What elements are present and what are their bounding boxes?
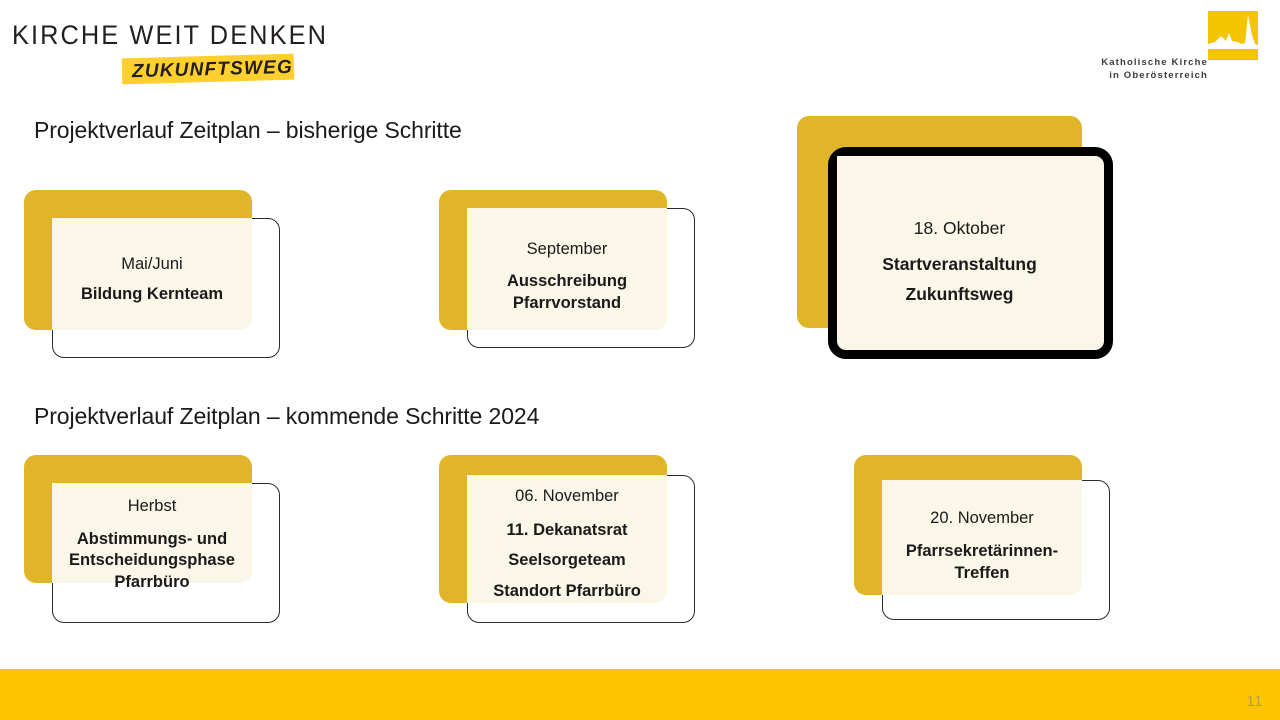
card-line-1: Startveranstaltung xyxy=(837,256,1082,274)
card-line-1: 11. Dekanatsrat xyxy=(467,522,667,539)
card-line-3: Pfarrbüro xyxy=(52,574,252,591)
logo-banner-text: ZUKUNFTSWEG xyxy=(132,57,294,83)
card-date: 18. Oktober xyxy=(837,220,1082,238)
page-number: 11 xyxy=(1246,693,1263,710)
timeline-card-20-november[interactable]: 20. November Pfarrsekretärinnen- Treffen xyxy=(854,455,1110,623)
card-line-1: Pfarrsekretärinnen- xyxy=(882,543,1082,560)
katholische-kirche-logo: Katholische Kirche in Oberösterreich xyxy=(1054,8,1269,88)
slide-canvas: KIRCHE WEIT DENKEN ZUKUNFTSWEG Katholisc… xyxy=(0,0,1280,720)
card-text: 06. November 11. Dekanatsrat Seelsorgete… xyxy=(467,488,667,599)
timeline-card-06-november[interactable]: 06. November 11. Dekanatsrat Seelsorgete… xyxy=(439,455,695,623)
card-date: 20. November xyxy=(882,510,1082,527)
mountain-pulse-mark-icon xyxy=(1208,11,1258,60)
card-line-3: Standort Pfarrbüro xyxy=(467,583,667,600)
card-text: Mai/Juni Bildung Kernteam xyxy=(52,256,252,302)
card-line-2: Zukunftsweg xyxy=(837,286,1082,304)
timeline-card-mai-juni[interactable]: Mai/Juni Bildung Kernteam xyxy=(24,190,280,358)
section-heading-upcoming-steps: Projektverlauf Zeitplan – kommende Schri… xyxy=(34,403,539,430)
logo-title-text: KIRCHE WEIT DENKEN xyxy=(12,20,328,51)
card-text: September Ausschreibung Pfarrvorstand xyxy=(467,241,667,312)
card-text: Herbst Abstimmungs- und Entscheidungspha… xyxy=(52,498,252,590)
card-line-2: Entscheidungsphase xyxy=(52,552,252,569)
card-text: 20. November Pfarrsekretärinnen- Treffen xyxy=(882,510,1082,582)
card-line-1: Bildung Kernteam xyxy=(52,286,252,303)
card-line-2: Treffen xyxy=(882,565,1082,582)
card-date: September xyxy=(467,241,667,258)
card-date: 06. November xyxy=(467,488,667,505)
timeline-card-september[interactable]: September Ausschreibung Pfarrvorstand xyxy=(439,190,695,358)
card-text: 18. Oktober Startveranstaltung Zukunftsw… xyxy=(837,220,1082,304)
diocese-name-text: Katholische Kirche in Oberösterreich xyxy=(1101,56,1208,82)
timeline-card-18-oktober[interactable]: 18. Oktober Startveranstaltung Zukunftsw… xyxy=(797,116,1113,359)
diocese-name-line1: Katholische Kirche xyxy=(1101,56,1208,69)
footer-bar xyxy=(0,669,1280,720)
section-heading-previous-steps: Projektverlauf Zeitplan – bisherige Schr… xyxy=(34,117,462,144)
card-line-2: Pfarrvorstand xyxy=(467,295,667,312)
kirche-weit-denken-logo: KIRCHE WEIT DENKEN ZUKUNFTSWEG xyxy=(10,8,310,88)
card-line-1: Abstimmungs- und xyxy=(52,531,252,548)
diocese-name-line2: in Oberösterreich xyxy=(1101,69,1208,82)
card-date: Herbst xyxy=(52,498,252,515)
card-line-1: Ausschreibung xyxy=(467,273,667,290)
card-date: Mai/Juni xyxy=(52,256,252,273)
timeline-card-herbst[interactable]: Herbst Abstimmungs- und Entscheidungspha… xyxy=(24,455,280,623)
card-line-2: Seelsorgeteam xyxy=(467,552,667,569)
